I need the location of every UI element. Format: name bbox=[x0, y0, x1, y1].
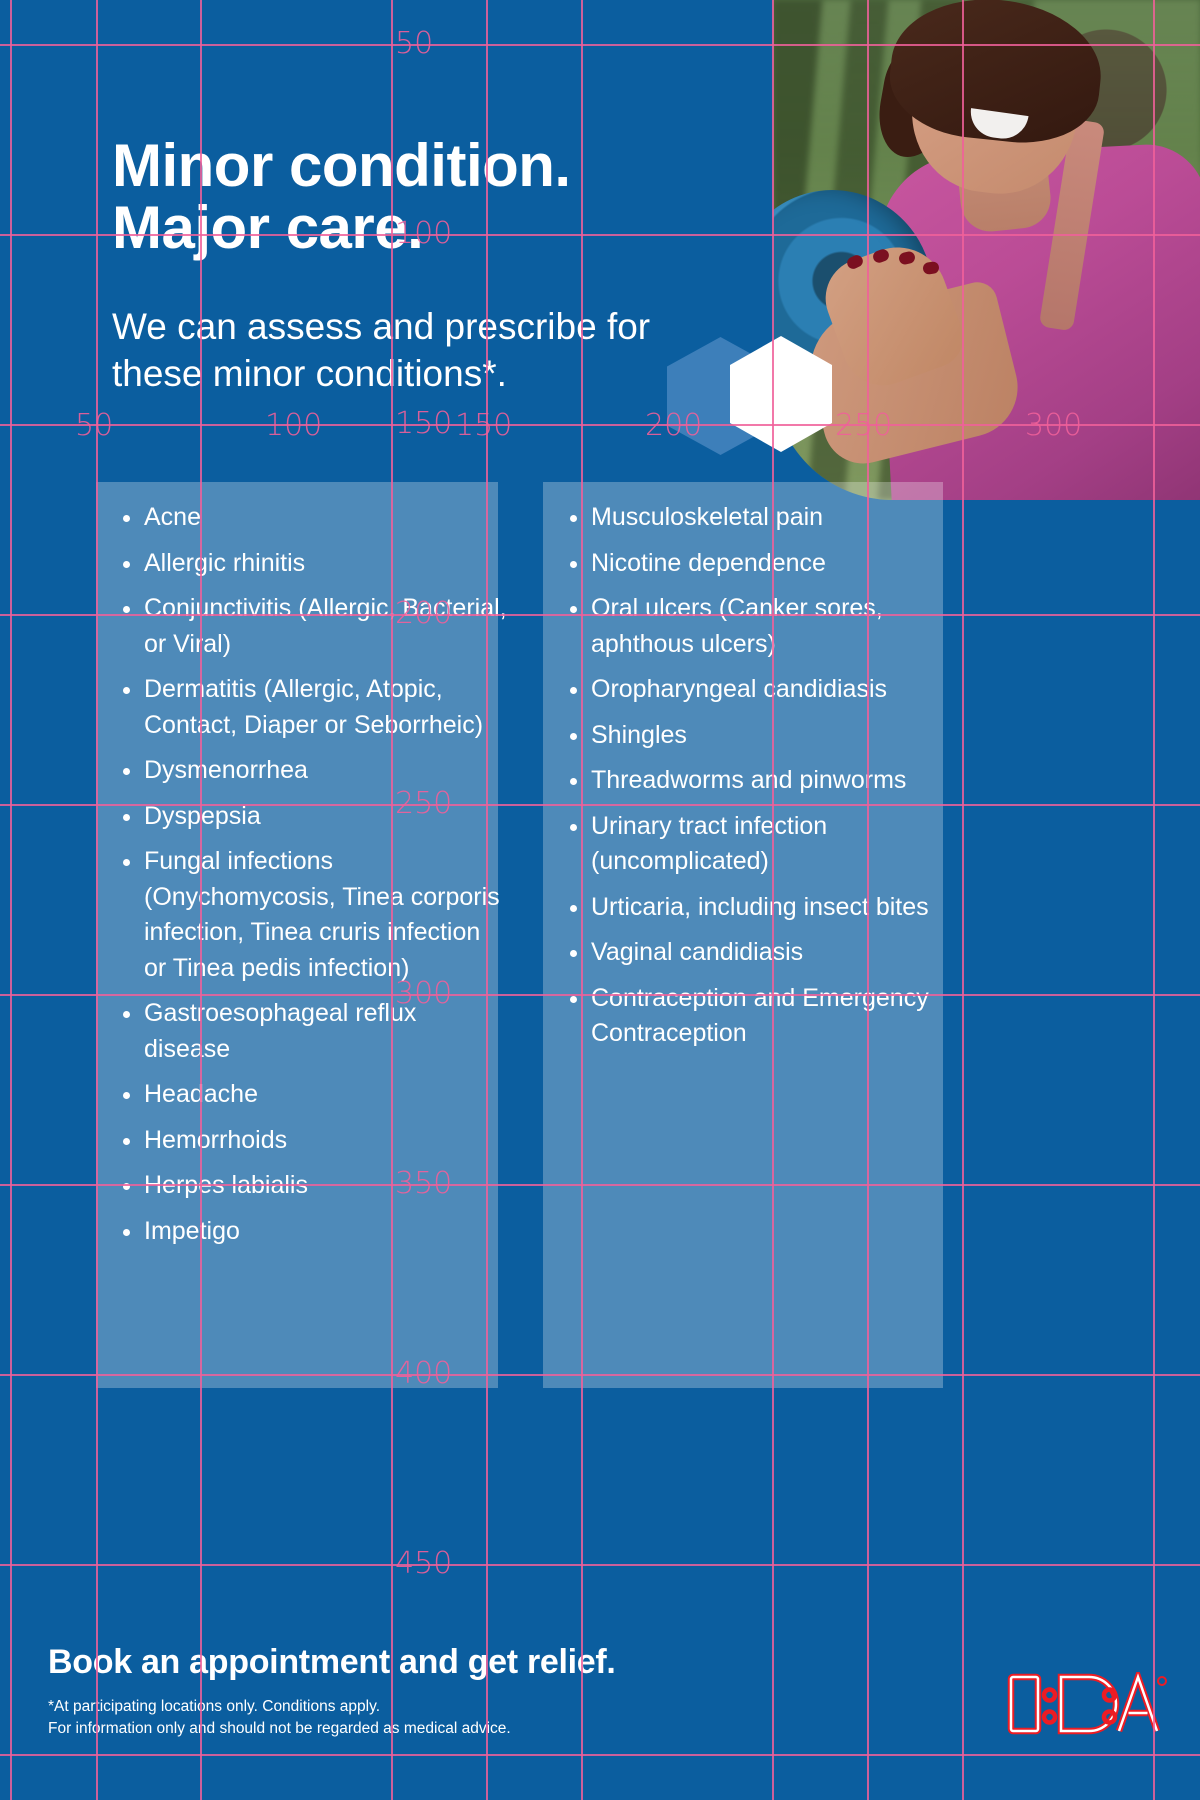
condition-item: Urticaria, including insect bites bbox=[565, 890, 955, 926]
grid-label-x: 100 bbox=[265, 408, 322, 443]
disclaimer-line-2: For information only and should not be r… bbox=[48, 1718, 748, 1740]
cta-heading: Book an appointment and get relief. bbox=[48, 1643, 616, 1682]
conditions-list-left: AcneAllergic rhinitisConjunctivitis (All… bbox=[118, 500, 508, 1259]
condition-item: Vaginal candidiasis bbox=[565, 935, 955, 971]
hero-photo bbox=[773, 0, 1200, 500]
condition-item: Oropharyngeal candidiasis bbox=[565, 672, 955, 708]
page-subtitle: We can assess and prescribe for these mi… bbox=[112, 303, 712, 398]
ida-logo bbox=[1007, 1672, 1167, 1736]
condition-item: Dyspepsia bbox=[118, 799, 508, 835]
grid-line-horizontal bbox=[0, 1754, 1200, 1756]
disclaimer-line-1: *At participating locations only. Condit… bbox=[48, 1696, 748, 1718]
condition-item: Contraception and Emergency Contraceptio… bbox=[565, 981, 955, 1052]
condition-item: Headache bbox=[118, 1077, 508, 1113]
condition-item: Allergic rhinitis bbox=[118, 546, 508, 582]
condition-item: Nicotine dependence bbox=[565, 546, 955, 582]
condition-item: Hemorrhoids bbox=[118, 1123, 508, 1159]
condition-item: Urinary tract infection (uncomplicated) bbox=[565, 809, 955, 880]
poster-canvas: Minor condition. Major care. We can asse… bbox=[0, 0, 1200, 1800]
condition-item: Dermatitis (Allergic, Atopic, Contact, D… bbox=[118, 672, 508, 743]
condition-item: Oral ulcers (Canker sores, aphthous ulce… bbox=[565, 591, 955, 662]
disclaimer-text: *At participating locations only. Condit… bbox=[48, 1696, 748, 1740]
ida-logo-svg bbox=[1007, 1672, 1167, 1736]
grid-label-x: 150 bbox=[455, 408, 512, 443]
grid-label-y: 150 bbox=[395, 406, 452, 441]
condition-item: Musculoskeletal pain bbox=[565, 500, 955, 536]
grid-line-vertical bbox=[10, 0, 12, 1800]
condition-item: Conjunctivitis (Allergic, Bacterial, or … bbox=[118, 591, 508, 662]
condition-item: Dysmenorrhea bbox=[118, 753, 508, 789]
grid-label-x: 50 bbox=[75, 408, 113, 443]
condition-item: Fungal infections (Onychomycosis, Tinea … bbox=[118, 844, 508, 986]
condition-item: Threadworms and pinworms bbox=[565, 763, 955, 799]
condition-item: Impetigo bbox=[118, 1214, 508, 1250]
grid-label-y: 450 bbox=[395, 1546, 452, 1581]
conditions-list-right: Musculoskeletal painNicotine dependenceO… bbox=[565, 500, 955, 1062]
page-title: Minor condition. Major care. bbox=[112, 135, 732, 259]
title-line-1: Minor condition. bbox=[112, 132, 571, 199]
condition-item: Gastroesophageal reflux disease bbox=[118, 996, 508, 1067]
grid-line-horizontal bbox=[0, 1564, 1200, 1566]
grid-label-y: 50 bbox=[395, 26, 433, 61]
condition-item: Shingles bbox=[565, 718, 955, 754]
condition-item: Acne bbox=[118, 500, 508, 536]
title-line-2: Major care. bbox=[112, 197, 732, 259]
condition-item: Herpes labialis bbox=[118, 1168, 508, 1204]
